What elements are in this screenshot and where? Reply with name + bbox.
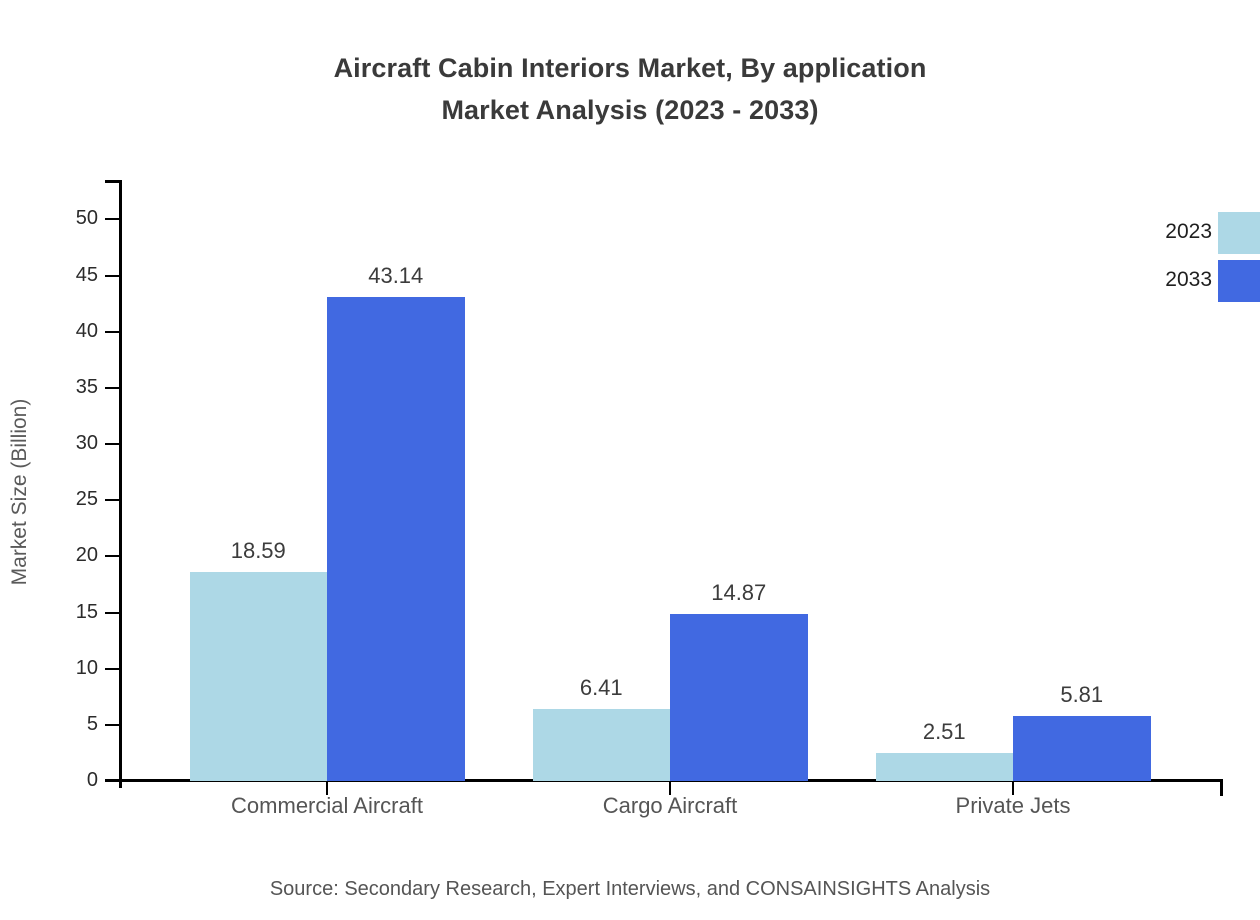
y-tick-mark xyxy=(105,555,122,557)
y-tick-label: 25 xyxy=(76,488,98,511)
y-axis-title: Market Size (Billion) xyxy=(0,0,40,920)
legend-swatch-2033 xyxy=(1218,260,1260,302)
legend-swatch-2023 xyxy=(1218,212,1260,254)
y-tick-label: 5 xyxy=(87,713,98,736)
chart-title: Aircraft Cabin Interiors Market, By appl… xyxy=(0,48,1260,88)
bar-value-label: 43.14 xyxy=(368,263,423,289)
y-tick-mark xyxy=(105,780,122,782)
y-axis-title-text: Market Size (Billion) xyxy=(8,212,32,772)
y-tick-mark xyxy=(105,387,122,389)
y-tick-label: 10 xyxy=(76,657,98,680)
y-tick-mark xyxy=(105,499,122,501)
legend-item-2023[interactable]: 2023 xyxy=(1100,212,1260,256)
source-note: Source: Secondary Research, Expert Inter… xyxy=(0,878,1260,901)
y-tick-label: 45 xyxy=(76,264,98,287)
bar-value-label: 5.81 xyxy=(1060,682,1103,708)
bar-value-label: 6.41 xyxy=(580,675,623,701)
y-tick-label: 35 xyxy=(76,376,98,399)
chart-figure: Aircraft Cabin Interiors Market, By appl… xyxy=(0,0,1260,920)
bar-2023-cargo-aircraft[interactable] xyxy=(533,709,671,781)
x-tick-label-commercial-aircraft: Commercial Aircraft xyxy=(231,793,423,819)
chart-legend: 2023 2033 xyxy=(1100,212,1260,304)
y-tick-label: 15 xyxy=(76,601,98,624)
bar-value-label: 18.59 xyxy=(231,538,286,564)
chart-subtitle: Market Analysis (2023 - 2033) xyxy=(0,90,1260,130)
y-tick-label: 30 xyxy=(76,432,98,455)
y-tick-mark xyxy=(105,668,122,670)
y-tick-label: 0 xyxy=(87,769,98,792)
x-tick-label-cargo-aircraft: Cargo Aircraft xyxy=(603,793,738,819)
bar-2033-commercial-aircraft[interactable] xyxy=(327,297,465,781)
legend-item-2033[interactable]: 2033 xyxy=(1100,260,1260,304)
bar-value-label: 14.87 xyxy=(711,580,766,606)
y-axis-top-cap xyxy=(105,180,122,183)
chart-title-block: Aircraft Cabin Interiors Market, By appl… xyxy=(0,48,1260,130)
bar-2033-private-jets[interactable] xyxy=(1013,716,1151,781)
bar-value-label: 2.51 xyxy=(923,719,966,745)
bar-2023-private-jets[interactable] xyxy=(876,753,1014,781)
x-axis-end-cap xyxy=(1220,779,1223,796)
plot-area: 18.596.412.5143.1414.875.81 xyxy=(122,197,1223,781)
y-tick-mark xyxy=(105,331,122,333)
legend-label-2023: 2023 xyxy=(1165,220,1212,244)
y-tick-mark xyxy=(105,612,122,614)
bar-2023-commercial-aircraft[interactable] xyxy=(190,572,328,781)
x-tick-label-private-jets: Private Jets xyxy=(956,793,1071,819)
y-tick-mark xyxy=(105,275,122,277)
y-tick-mark xyxy=(105,443,122,445)
y-tick-label: 50 xyxy=(76,207,98,230)
y-tick-mark xyxy=(105,724,122,726)
y-tick-label: 20 xyxy=(76,544,98,567)
y-tick-mark xyxy=(105,218,122,220)
y-tick-label: 40 xyxy=(76,320,98,343)
bar-2033-cargo-aircraft[interactable] xyxy=(670,614,808,781)
legend-label-2033: 2033 xyxy=(1165,268,1212,292)
